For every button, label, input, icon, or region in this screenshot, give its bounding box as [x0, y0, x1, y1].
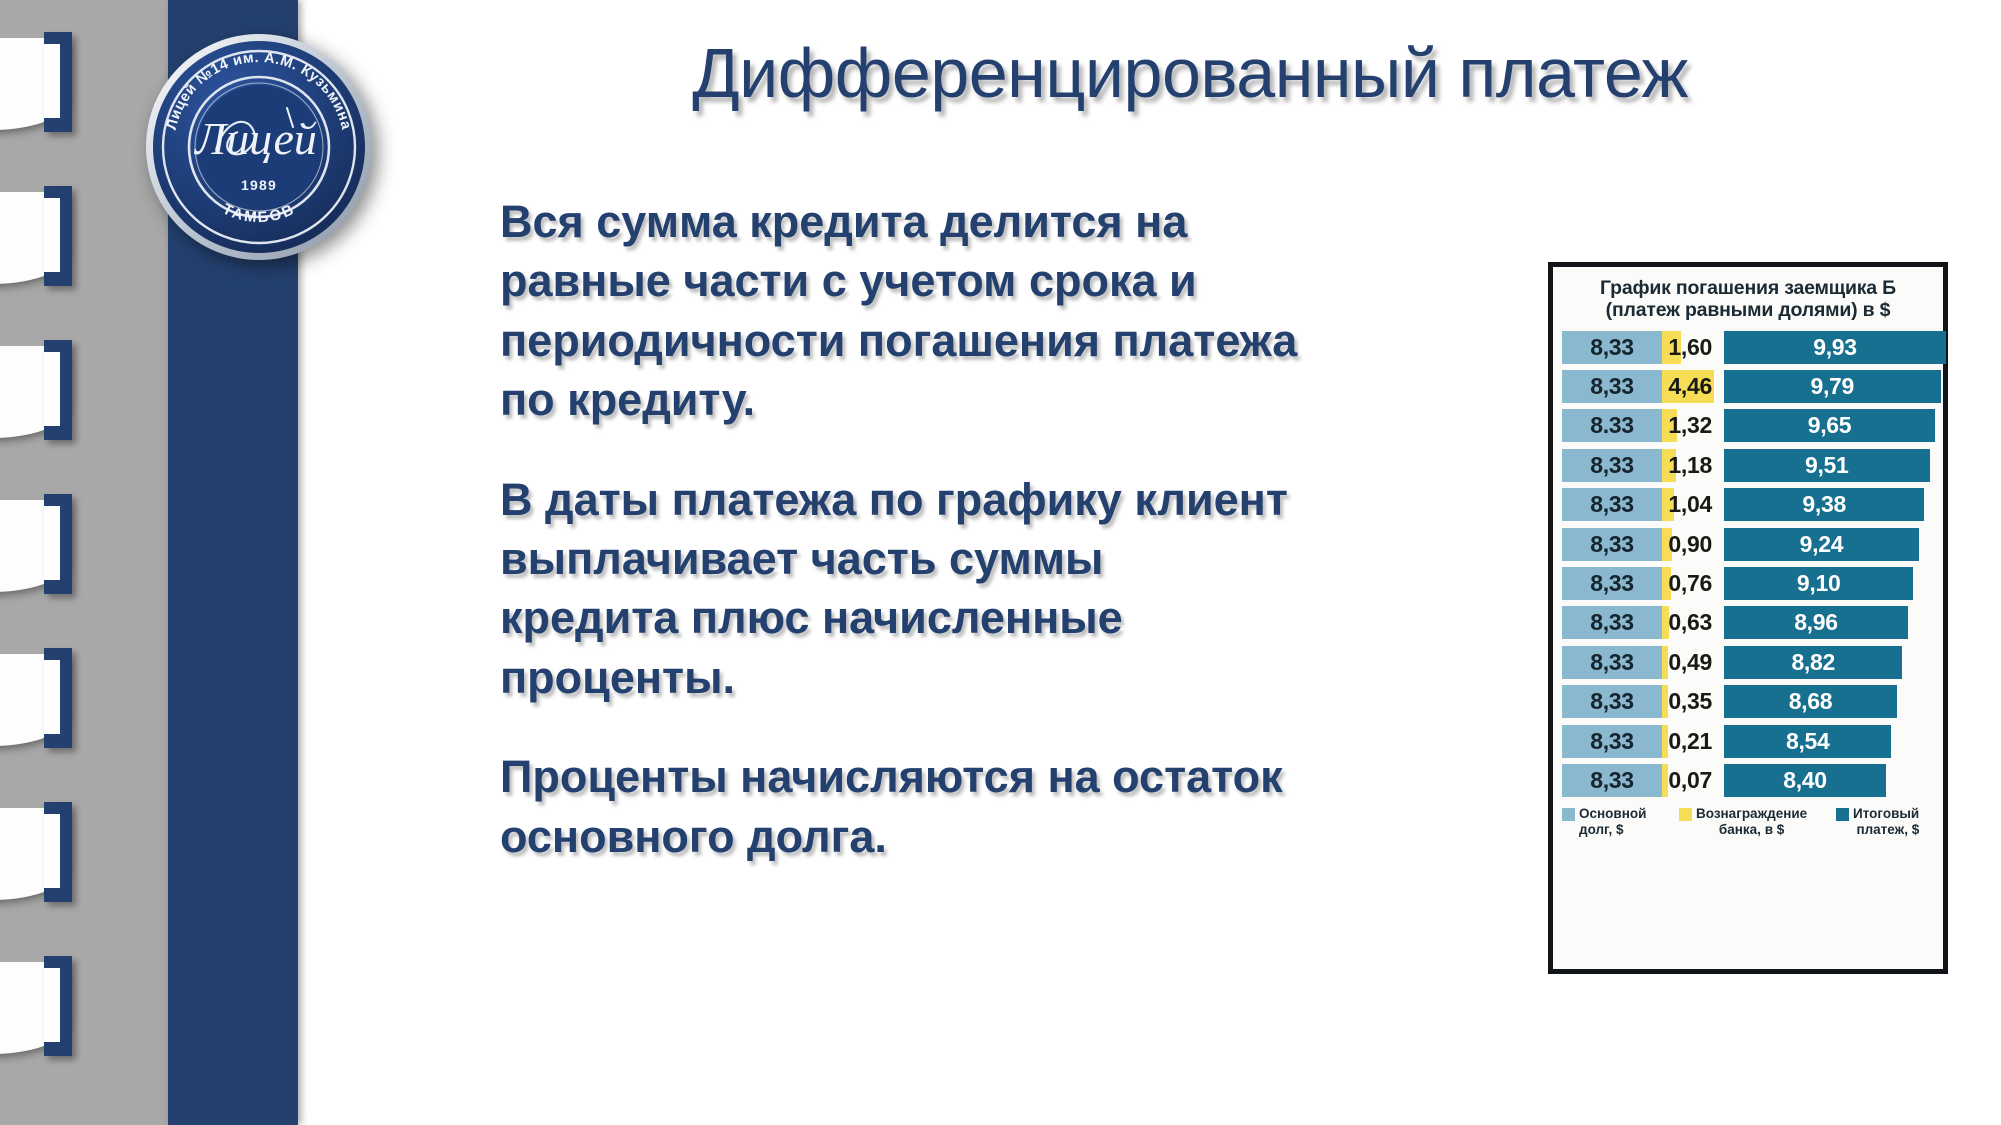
binder-ring-group: [0, 0, 168, 1125]
bar-interest-label: 1,60: [1697, 331, 1716, 364]
legend-item-total: Итоговый платеж, $: [1836, 806, 1934, 838]
bar-total: 9,65: [1724, 409, 1935, 442]
bar-total: 8,40: [1724, 764, 1886, 797]
bar-principal: 8,33: [1562, 764, 1662, 797]
legend-item-principal: Основной долг, $: [1562, 806, 1674, 838]
bar-principal: 8,33: [1562, 725, 1662, 758]
bar-principal: 8,33: [1562, 606, 1662, 639]
chart-bar-rows: 8,331,609,938,334,469,798.331,329,658,33…: [1562, 331, 1934, 797]
binder-ring: [0, 808, 72, 900]
binder-ring: [0, 346, 72, 438]
bar-principal: 8,33: [1562, 331, 1662, 364]
bar-interest: 1,04: [1662, 488, 1674, 521]
bar-interest-label: 1,32: [1701, 409, 1716, 442]
bar-total: 9,79: [1724, 370, 1941, 403]
bar-principal: 8,33: [1562, 646, 1662, 679]
chart-row: 8,330,078,40: [1562, 764, 1934, 797]
legend-label-interest: Вознаграждение банка, в $: [1696, 806, 1807, 838]
bar-total: 8,96: [1724, 606, 1908, 639]
bar-interest: 0,35: [1662, 685, 1668, 718]
chart-row: 8,331,609,93: [1562, 331, 1934, 364]
bar-principal: 8,33: [1562, 370, 1662, 403]
chart-row: 8,330,498,82: [1562, 646, 1934, 679]
bar-interest-label: 0,49: [1710, 646, 1716, 679]
bar-interest-label: 4,46: [1664, 370, 1716, 403]
bar-total: 9,51: [1724, 449, 1930, 482]
legend-item-interest: Вознаграждение банка, в $: [1679, 806, 1831, 838]
chart-row: 8,330,909,24: [1562, 528, 1934, 561]
binder-ring: [0, 38, 72, 130]
bar-interest-label: 0,90: [1706, 528, 1716, 561]
legend-swatch-interest-icon: [1679, 808, 1692, 821]
chart-row: 8,331,049,38: [1562, 488, 1934, 521]
paragraph-2: В даты платежа по графику клиент выплачи…: [500, 470, 1460, 708]
chart-row: 8.331,329,65: [1562, 409, 1934, 442]
bar-principal: 8,33: [1562, 685, 1662, 718]
bar-interest: 0,63: [1662, 606, 1669, 639]
bar-principal: 8,33: [1562, 567, 1662, 600]
binder-ring: [0, 500, 72, 592]
chart-row: 8,331,189,51: [1562, 449, 1934, 482]
binder-ring: [0, 654, 72, 746]
bar-interest: 1,60: [1662, 331, 1681, 364]
school-logo: Лицей №14 им. А.М. Кузьмина ТАМБОВ Лицей…: [144, 32, 374, 262]
chart-title-line-1: График погашения заемщика Б: [1562, 278, 1934, 300]
bar-interest: 4,46: [1662, 370, 1714, 403]
bar-principal: 8,33: [1562, 488, 1662, 521]
bar-total: 9,24: [1724, 528, 1919, 561]
bar-interest-label: 0,63: [1709, 606, 1716, 639]
chart-row: 8,330,218,54: [1562, 725, 1934, 758]
bar-total: 8,54: [1724, 725, 1891, 758]
repayment-chart-panel: График погашения заемщика Б (платеж равн…: [1548, 262, 1948, 974]
bar-interest: 1,32: [1662, 409, 1677, 442]
bar-interest: 0,76: [1662, 567, 1671, 600]
chart-legend: Основной долг, $ Вознаграждение банка, в…: [1562, 806, 1934, 838]
binder-ring-hook-gap: [44, 814, 60, 888]
chart-row: 8,334,469,79: [1562, 370, 1934, 403]
legend-swatch-principal-icon: [1562, 808, 1575, 821]
legend-swatch-total-icon: [1836, 808, 1849, 821]
bar-interest-label: 0,07: [1710, 764, 1716, 797]
chart-row: 8,330,638,96: [1562, 606, 1934, 639]
bar-interest: 0,21: [1662, 725, 1668, 758]
slide-root: Лицей №14 им. А.М. Кузьмина ТАМБОВ Лицей…: [0, 0, 2001, 1125]
bar-total: 8,82: [1724, 646, 1902, 679]
bar-interest-label: 0,21: [1710, 725, 1716, 758]
page-title: Дифференцированный платеж: [430, 36, 1950, 112]
chart-title-line-2: (платеж равными долями) в $: [1562, 300, 1934, 322]
bar-interest: 0,90: [1662, 528, 1672, 561]
chart-title: График погашения заемщика Б (платеж равн…: [1562, 278, 1934, 322]
binder-ring-hook-gap: [44, 660, 60, 734]
body-text-column: Вся сумма кредита делится на равные част…: [500, 192, 1460, 866]
binder-ring-hook-gap: [44, 352, 60, 426]
binder-ring-hook-gap: [44, 506, 60, 580]
bar-interest: 0,49: [1662, 646, 1668, 679]
binder-ring-hook-gap: [44, 44, 60, 118]
bar-interest: 1,18: [1662, 449, 1676, 482]
logo-year-text: 1989: [241, 177, 277, 193]
chart-row: 8,330,358,68: [1562, 685, 1934, 718]
bar-total: 9,10: [1724, 567, 1913, 600]
binder-ring: [0, 192, 72, 284]
bar-interest-label: 1,04: [1704, 488, 1716, 521]
bar-principal: 8,33: [1562, 449, 1662, 482]
bar-total: 8,68: [1724, 685, 1897, 718]
bar-interest: 0,07: [1662, 764, 1668, 797]
bar-total: 9,38: [1724, 488, 1924, 521]
binder-ring-hook-gap: [44, 198, 60, 272]
bar-interest-label: 0,35: [1710, 685, 1716, 718]
bar-total: 9,93: [1724, 331, 1946, 364]
binder-ring: [0, 962, 72, 1054]
bar-principal: 8,33: [1562, 528, 1662, 561]
legend-label-total: Итоговый платеж, $: [1853, 806, 1919, 838]
paragraph-3: Проценты начисляются на остаток основног…: [500, 747, 1460, 866]
legend-label-principal: Основной долг, $: [1579, 806, 1646, 838]
bar-interest-label: 0,76: [1707, 567, 1716, 600]
bar-principal: 8.33: [1562, 409, 1662, 442]
binder-ring-hook-gap: [44, 968, 60, 1042]
paragraph-1: Вся сумма кредита делится на равные част…: [500, 192, 1460, 430]
bar-interest-label: 1,18: [1702, 449, 1716, 482]
chart-row: 8,330,769,10: [1562, 567, 1934, 600]
